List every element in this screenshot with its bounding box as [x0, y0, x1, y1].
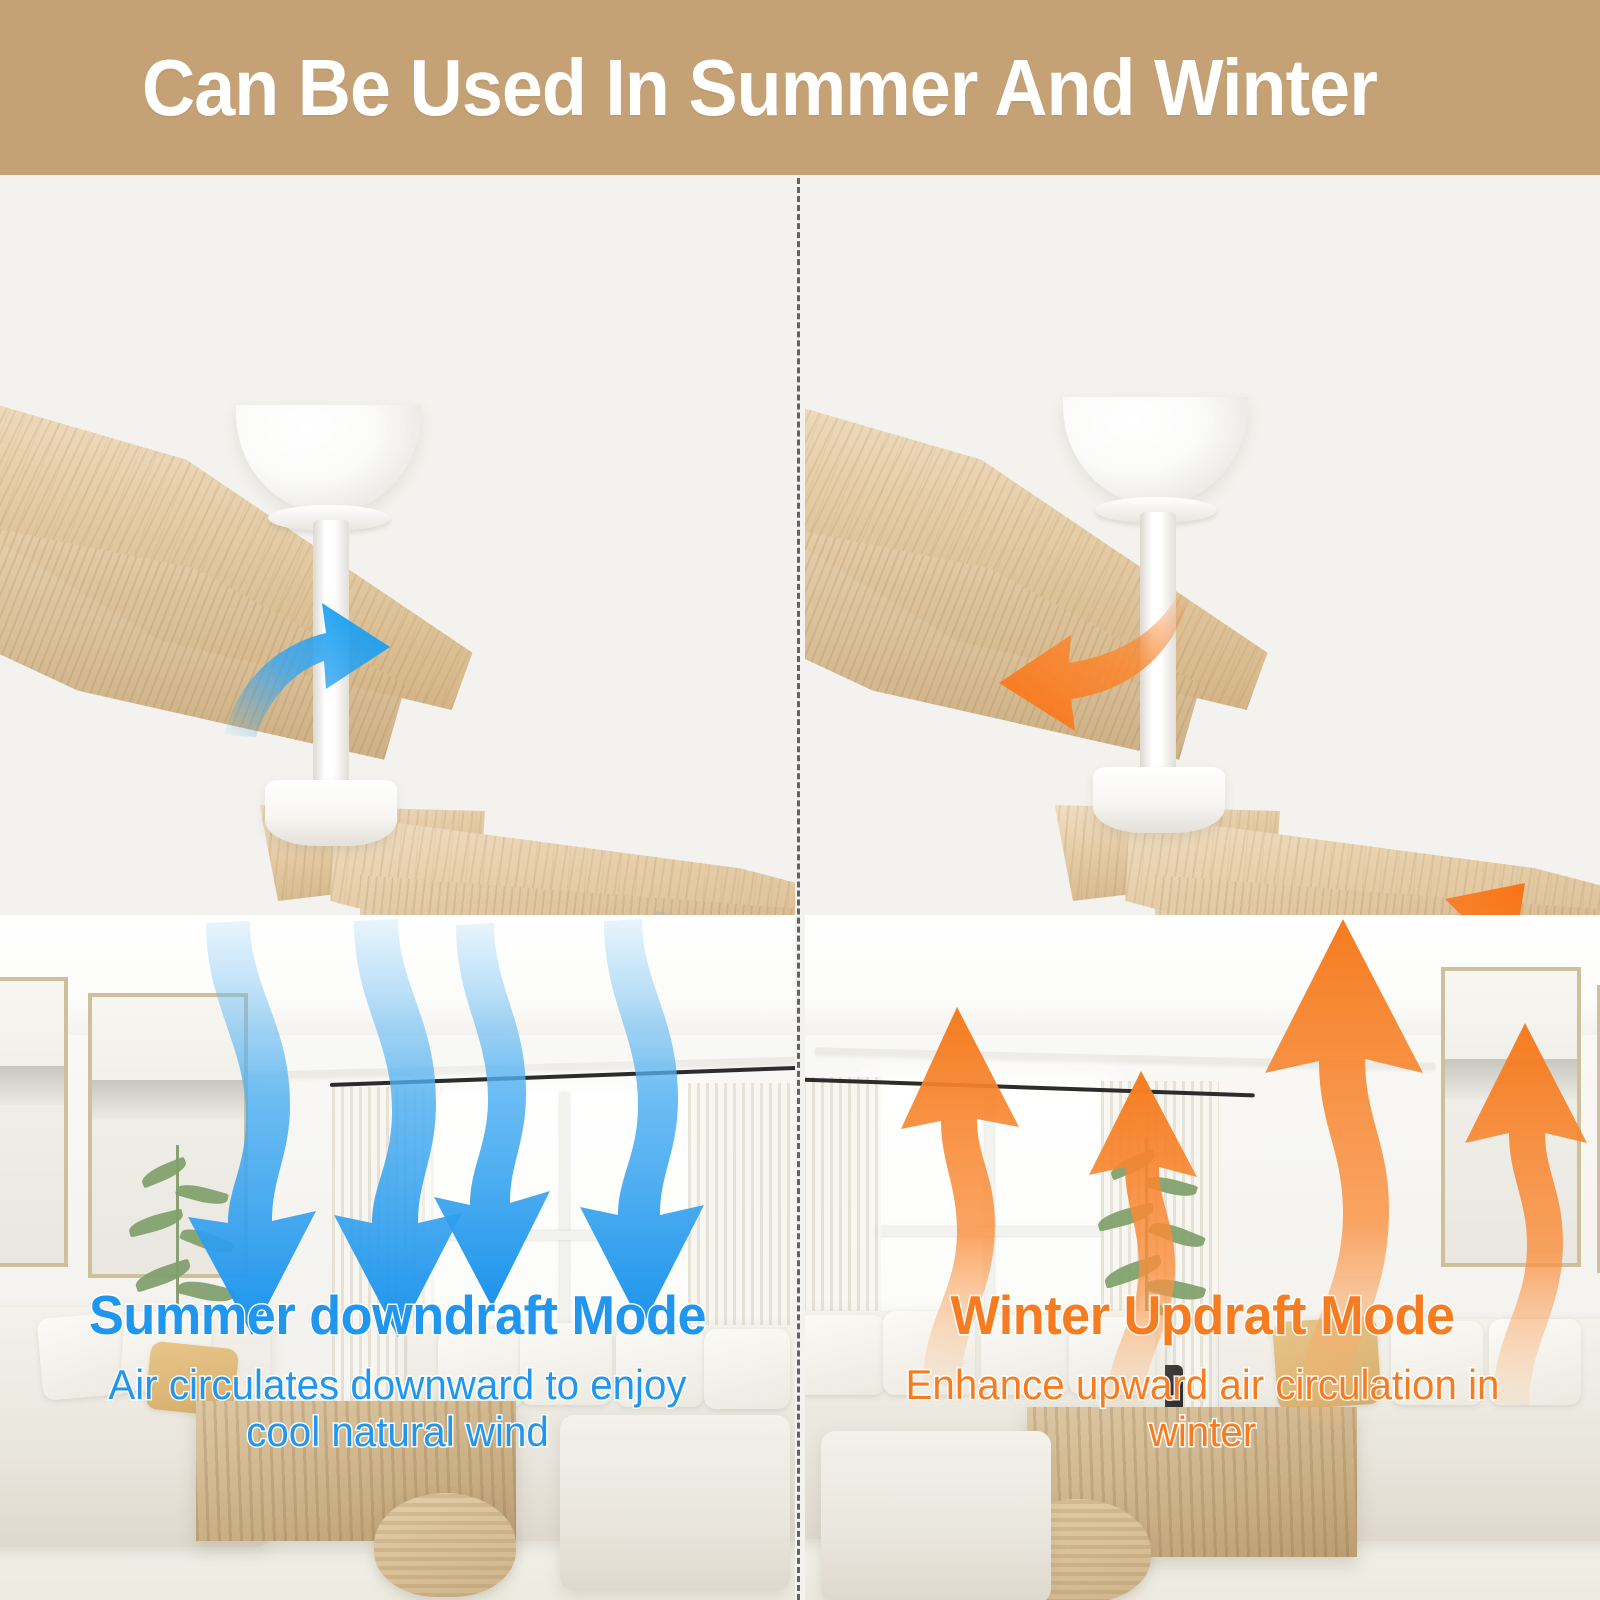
caption-heading-summer: Summer downdraft Mode [20, 1287, 775, 1345]
fan-scene-winter [805, 175, 1600, 935]
caption-description-winter: Enhance upward air circulation in winter [821, 1361, 1584, 1455]
header-banner: Can Be Used In Summer And Winter [0, 0, 1600, 175]
rotation-arrow-winter [975, 585, 1195, 745]
caption-summer: Summer downdraft Mode Air circulates dow… [0, 1287, 795, 1455]
panel-winter: Winter Updraft Mode Enhance upward air c… [805, 175, 1600, 1600]
fan-motor-housing [1093, 767, 1225, 833]
rotation-arrow-summer [222, 585, 422, 745]
caption-winter: Winter Updraft Mode Enhance upward air c… [805, 1287, 1600, 1455]
infographic-canvas: Can Be Used In Summer And Winter [0, 0, 1600, 1600]
panels-container: Summer downdraft Mode Air circulates dow… [0, 175, 1600, 1600]
page-title: Can Be Used In Summer And Winter [142, 42, 1377, 134]
fan-scene-summer [0, 175, 795, 935]
ceiling-canopy [1063, 397, 1248, 505]
caption-description-summer: Air circulates downward to enjoy cool na… [16, 1361, 779, 1455]
ceiling-canopy [236, 405, 421, 513]
fan-motor-housing [265, 780, 397, 846]
pouf [374, 1493, 516, 1597]
caption-heading-winter: Winter Updraft Mode [825, 1287, 1580, 1345]
panel-summer: Summer downdraft Mode Air circulates dow… [0, 175, 795, 1600]
